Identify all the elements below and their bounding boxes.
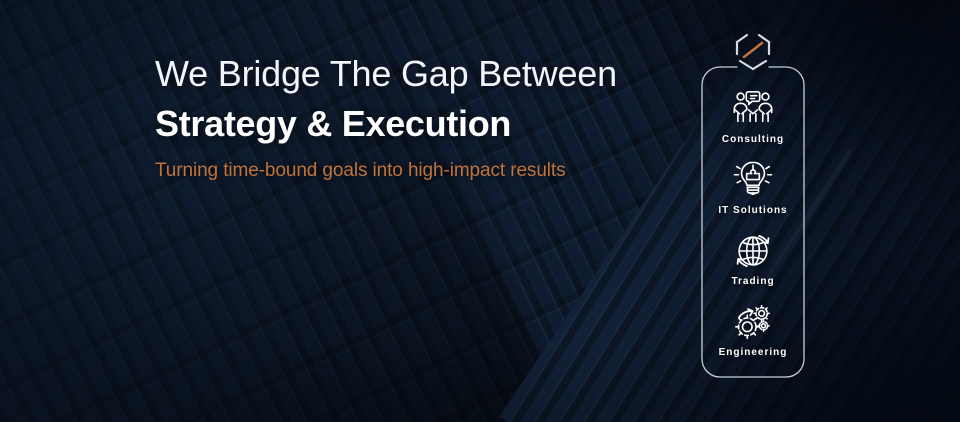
lightbulb-puzzle-icon (732, 159, 774, 201)
headline-line-1: We Bridge The Gap Between (155, 52, 655, 96)
service-item-trading[interactable]: Trading (701, 230, 805, 287)
headline-line-2: Strategy & Execution (155, 102, 655, 146)
service-item-consulting[interactable]: Consulting (701, 88, 805, 145)
subheadline: Turning time-bound goals into high-impac… (155, 160, 655, 182)
service-item-it-solutions[interactable]: IT Solutions (701, 159, 805, 216)
services-panel: Consulting (701, 66, 805, 378)
gears-arrow-icon (732, 301, 774, 343)
hexagon-slash-badge-icon (731, 28, 775, 78)
service-item-engineering[interactable]: Engineering (701, 301, 805, 358)
service-label-trading: Trading (731, 276, 774, 287)
consulting-people-chat-icon (732, 88, 774, 130)
service-label-it-solutions: IT Solutions (718, 205, 787, 216)
service-label-consulting: Consulting (722, 134, 784, 145)
hero-banner: We Bridge The Gap Between Strategy & Exe… (0, 0, 960, 422)
hero-copy: We Bridge The Gap Between Strategy & Exe… (155, 52, 655, 182)
service-label-engineering: Engineering (719, 347, 788, 358)
globe-arrows-icon (732, 230, 774, 272)
services-list: Consulting (701, 88, 805, 358)
